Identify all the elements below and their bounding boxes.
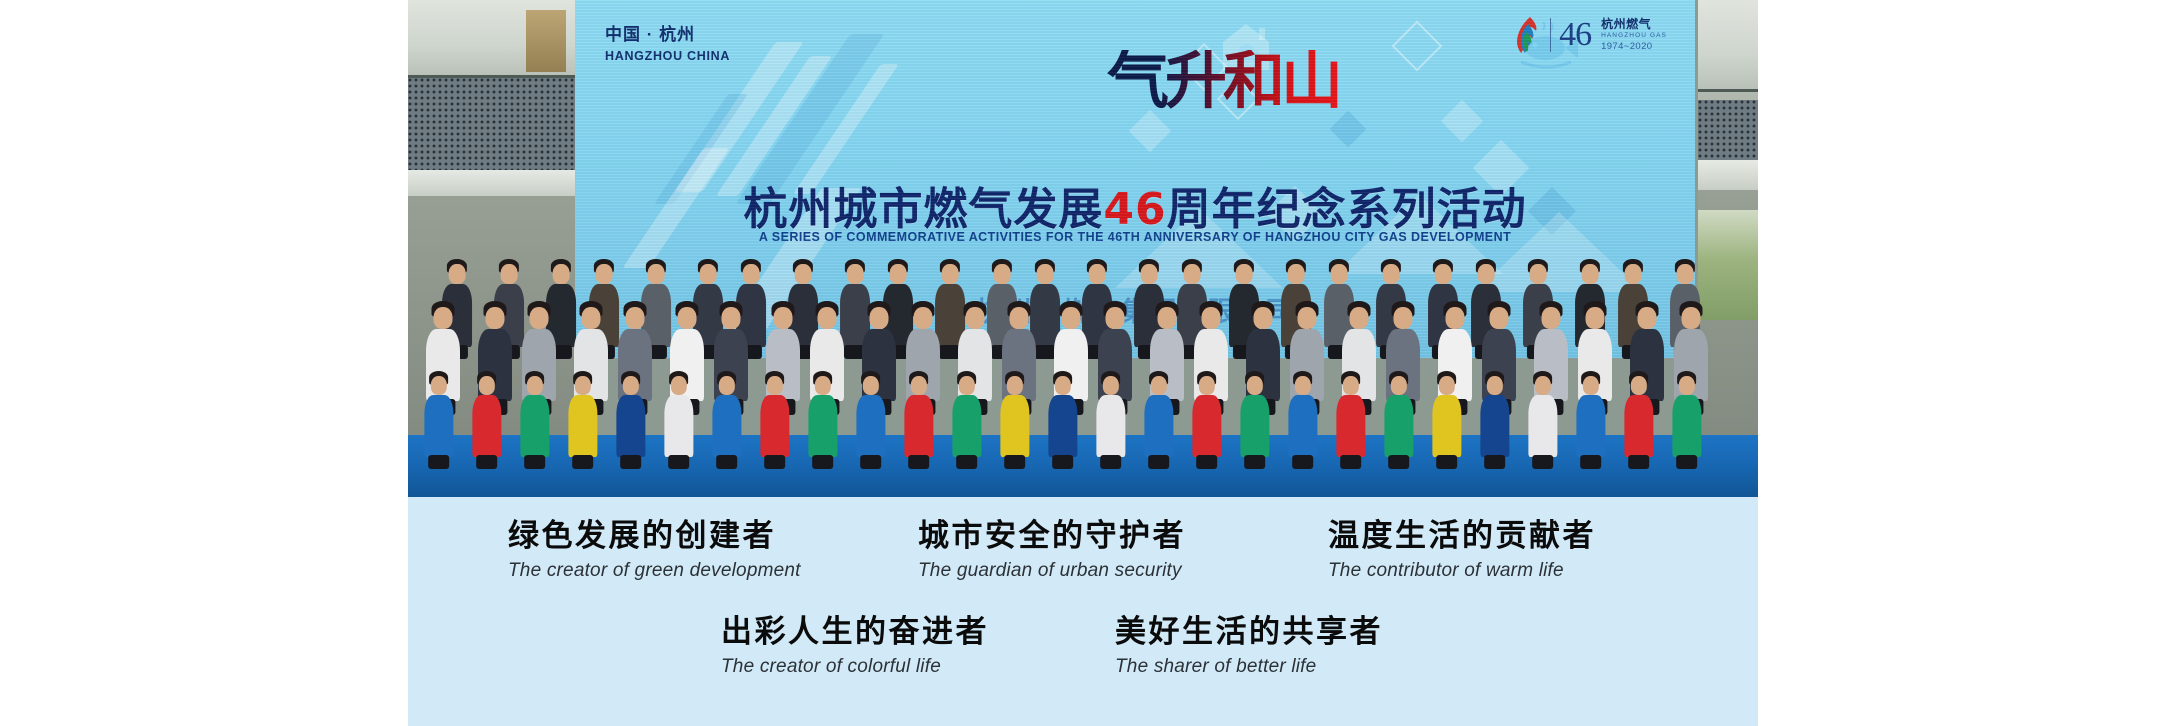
person-figure (1144, 369, 1173, 457)
locale-cn: 中国 · 杭州 (605, 23, 730, 46)
flame-icon (1516, 16, 1542, 54)
slogan-en: The contributor of warm life (1328, 560, 1658, 582)
person-figure (856, 369, 885, 457)
slogan-better-life: 美好生活的共享者 The sharer of better life (1115, 614, 1445, 678)
group-photo: 中国 · 杭州 HANGZHOU CHINA 46 杭州燃气 HANGZHOU … (408, 0, 1758, 497)
lockup-divider (1550, 18, 1551, 52)
person-figure (1288, 369, 1317, 457)
person-figure (568, 369, 597, 457)
slogan-en: The creator of green development (508, 560, 838, 582)
content-column: 中国 · 杭州 HANGZHOU CHINA 46 杭州燃气 HANGZHOU … (408, 0, 1758, 726)
anniversary-company-block: 杭州燃气 HANGZHOU GAS 1974~2020 (1601, 17, 1667, 53)
person-figure (424, 369, 453, 457)
slogan-colorful-life: 出彩人生的奋进者 The creator of colorful life (721, 614, 1051, 678)
person-figure (1240, 369, 1269, 457)
person-figure (1432, 369, 1461, 457)
page-root: 中国 · 杭州 HANGZHOU CHINA 46 杭州燃气 HANGZHOU … (0, 0, 2179, 726)
slogan-en: The sharer of better life (1115, 656, 1445, 678)
company-name-en: HANGZHOU GAS (1601, 32, 1667, 40)
person-figure (1048, 369, 1077, 457)
slogan-cn: 出彩人生的奋进者 (721, 614, 1051, 651)
person-figure (904, 369, 933, 457)
slogan-urban-security: 城市安全的守护者 The guardian of urban security (918, 518, 1248, 582)
person-figure (1480, 369, 1509, 457)
company-name-cn: 杭州燃气 (1601, 17, 1667, 32)
anniversary-number: 46 (1559, 18, 1591, 52)
locale-en: HANGZHOU CHINA (605, 48, 730, 65)
person-figure (1192, 369, 1221, 457)
slogan-cn: 绿色发展的创建者 (508, 518, 838, 555)
person-figure (808, 369, 837, 457)
person-figure (760, 369, 789, 457)
person-figure (472, 369, 501, 457)
person-figure (1096, 369, 1125, 457)
slogan-panel: 绿色发展的创建者 The creator of green developmen… (408, 497, 1758, 726)
slogan-cn: 美好生活的共享者 (1115, 614, 1445, 651)
person-figure (1000, 369, 1029, 457)
person-figure (1336, 369, 1365, 457)
anniversary-logo-lockup: 46 杭州燃气 HANGZHOU GAS 1974~2020 (1516, 16, 1667, 54)
person-figure (664, 369, 693, 457)
person-figure (712, 369, 741, 457)
slogan-green-development: 绿色发展的创建者 The creator of green developmen… (508, 518, 838, 582)
person-figure (952, 369, 981, 457)
diamond-deco-5 (1441, 100, 1483, 142)
slogan-cn: 温度生活的贡献者 (1328, 518, 1658, 555)
event-logotype: 气升和山 (1107, 50, 1339, 112)
diamond-deco-4 (1392, 21, 1443, 72)
balcony-glass-right (1698, 0, 1758, 92)
wood-panel-left (526, 10, 566, 72)
slogan-en: The guardian of urban security (918, 560, 1248, 582)
person-figure (1384, 369, 1413, 457)
crowd-group (408, 157, 1758, 497)
person-figure (1528, 369, 1557, 457)
perforated-panel-right (1698, 100, 1758, 160)
slogan-warm-life: 温度生活的贡献者 The contributor of warm life (1328, 518, 1658, 582)
person-figure (1576, 369, 1605, 457)
anniversary-years: 1974~2020 (1601, 41, 1667, 53)
person-figure (1624, 369, 1653, 457)
person-figure (1672, 369, 1701, 457)
screen-locale: 中国 · 杭州 HANGZHOU CHINA (605, 23, 730, 66)
person-figure (616, 369, 645, 457)
slogan-row-1: 绿色发展的创建者 The creator of green developmen… (408, 518, 1758, 582)
slogan-en: The creator of colorful life (721, 656, 1051, 678)
person-figure (520, 369, 549, 457)
slogan-cn: 城市安全的守护者 (918, 518, 1248, 555)
slogan-row-2: 出彩人生的奋进者 The creator of colorful life 美好… (408, 614, 1758, 678)
